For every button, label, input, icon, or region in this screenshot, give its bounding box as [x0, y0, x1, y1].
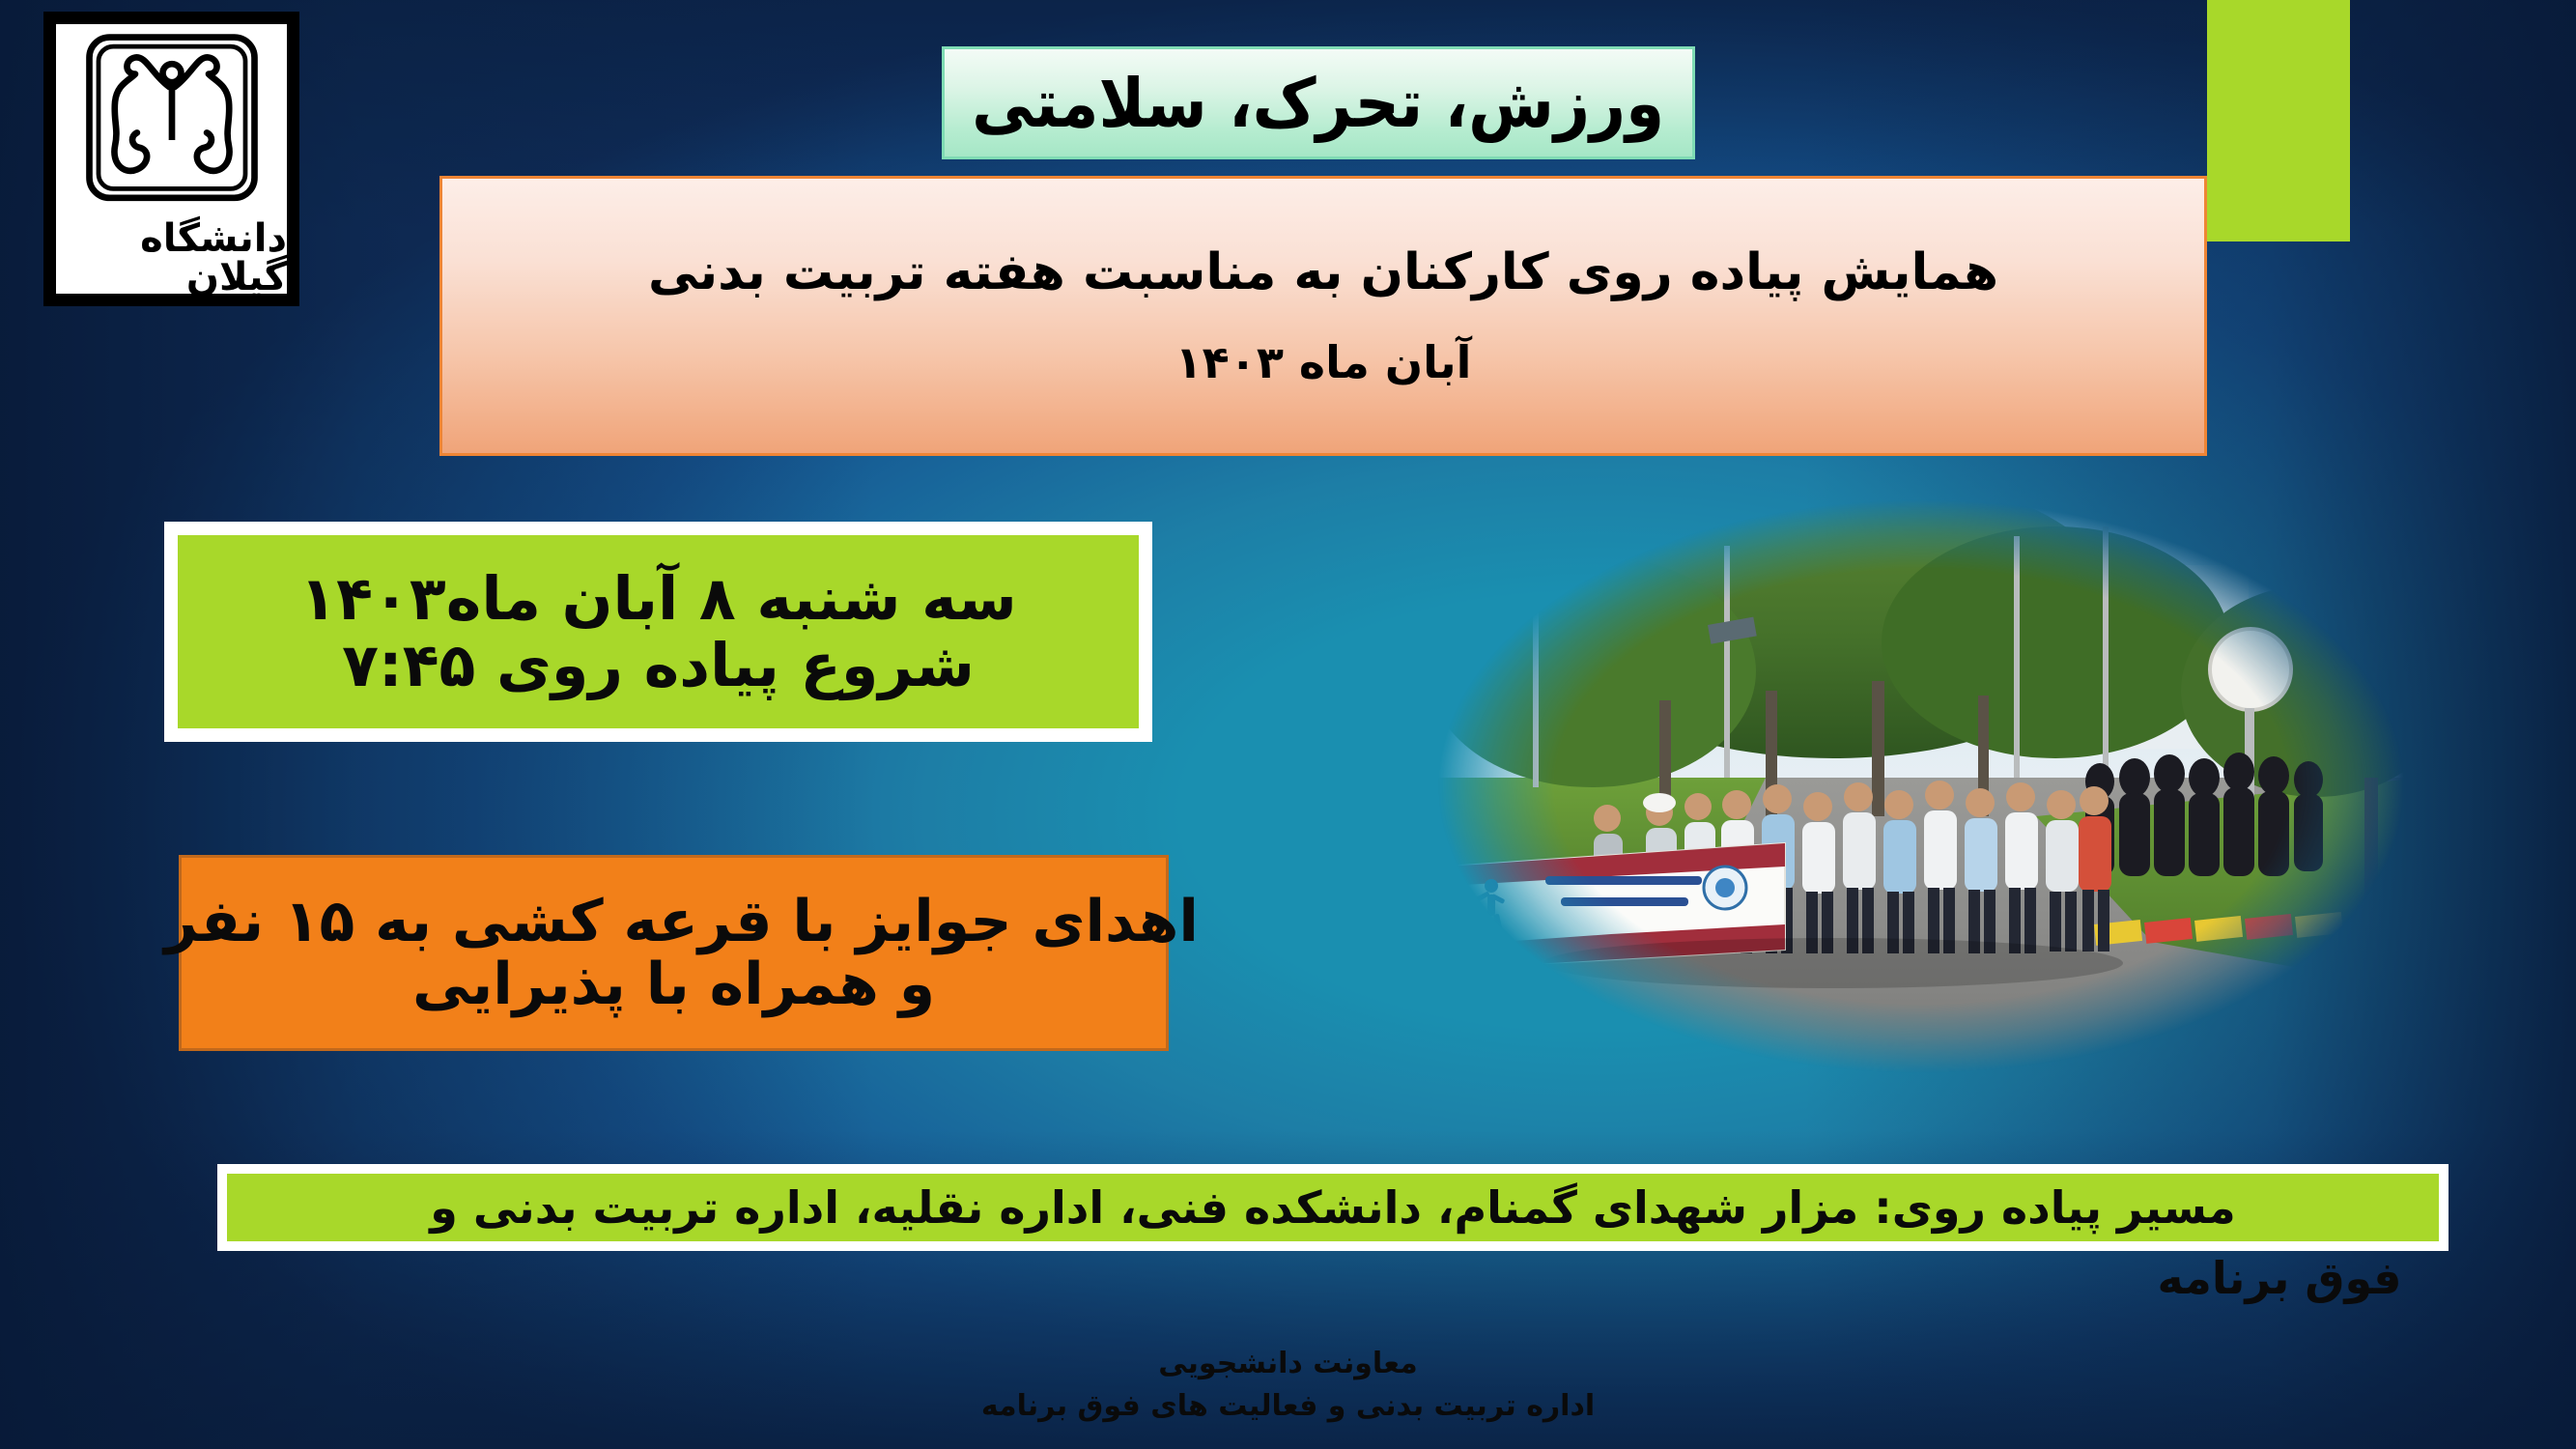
footer-department: معاونت دانشجویی: [0, 1343, 2576, 1385]
event-start-time: شروع پیاده روی ۷:۴۵: [342, 632, 975, 698]
headline-event-name: همایش پیاده روی کارکنان به مناسبت هفته ت…: [648, 247, 1998, 298]
walking-rally-photo: [1418, 488, 2424, 1085]
poster-title-box: ورزش، تحرک، سلامتی: [942, 46, 1695, 159]
logo-plate: دانشگاه گیلان: [56, 24, 287, 294]
logo-caption: دانشگاه گیلان: [56, 219, 287, 297]
poster-footer: معاونت دانشجویی اداره تربیت بدنی و فعالی…: [0, 1343, 2576, 1427]
date-time-box: سه شنبه ۸ آبان ماه۱۴۰۳ شروع پیاده روی ۷:…: [164, 522, 1152, 742]
route-box: مسیر پیاده روی: مزار شهدای گمنام، دانشکد…: [217, 1164, 2449, 1251]
university-logo: دانشگاه گیلان: [43, 12, 299, 306]
footer-office: اداره تربیت بدنی و فعالیت های فوق برنامه: [0, 1385, 2576, 1428]
prize-lottery-text: اهدای جوایز با قرعه کشی به ۱۵ نفر: [164, 891, 1199, 953]
headline-box: همایش پیاده روی کارکنان به مناسبت هفته ت…: [439, 176, 2207, 456]
route-description-overflow: فوق برنامه: [2106, 1256, 2453, 1300]
prize-box: اهدای جوایز با قرعه کشی به ۱۵ نفر و همرا…: [179, 855, 1169, 1051]
poster-title: ورزش، تحرک، سلامتی: [973, 70, 1665, 137]
headline-month: آبان ماه ۱۴۰۳: [1175, 340, 1472, 384]
date-time-fill: سه شنبه ۸ آبان ماه۱۴۰۳ شروع پیاده روی ۷:…: [178, 535, 1139, 728]
prize-refreshments-text: و همراه با پذیرایی: [412, 953, 935, 1016]
green-accent-bar: [2207, 0, 2350, 241]
route-description: مسیر پیاده روی: مزار شهدای گمنام، دانشکد…: [430, 1185, 2235, 1230]
event-date: سه شنبه ۸ آبان ماه۱۴۰۳: [299, 565, 1016, 632]
route-fill: مسیر پیاده روی: مزار شهدای گمنام، دانشکد…: [227, 1174, 2439, 1241]
poster-canvas: دانشگاه گیلان ورزش، تحرک، سلامتی همایش پ…: [0, 0, 2576, 1449]
guilan-emblem-icon: [80, 24, 264, 217]
